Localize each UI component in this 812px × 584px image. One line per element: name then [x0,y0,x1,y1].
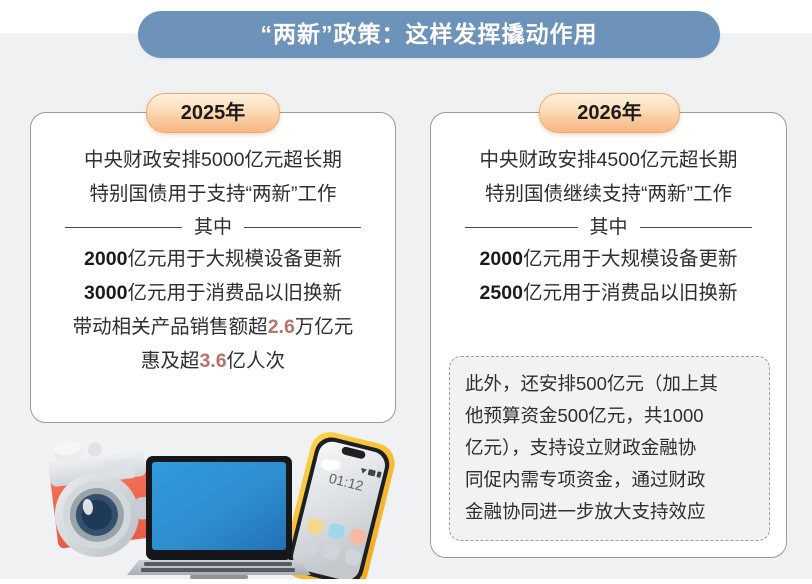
card-2026-intro-line-1: 中央财政安排4500亿元超长期 [447,143,770,177]
card-2025-intro-line-2: 特别国债用于支持“两新”工作 [47,177,379,211]
page-title: “两新”政策：这样发挥撬动作用 [261,23,598,46]
divider-rule-left [65,227,182,228]
divider-label: 其中 [590,218,628,237]
card-2025-detail-1-text: 亿元用于大规模设备更新 [127,248,342,270]
laptop-icon [127,456,311,579]
title-banner: “两新”政策：这样发挥撬动作用 [138,11,720,58]
card-2026-detail-2-amount: 2500 [480,282,523,304]
card-2026-detail-1: 2000亿元用于大规模设备更新 [447,242,770,276]
divider-rule-left [465,227,578,228]
note-line-4: 同促内需专项资金，通过财政 [465,464,754,496]
year-card-2025: 中央财政安排5000亿元超长期 特别国债用于支持“两新”工作 其中 2000亿元… [30,112,396,423]
note-line-5: 金融协同进一步放大支持效应 [465,496,754,528]
divider-rule-right [640,227,753,228]
card-2026-divider: 其中 [465,218,752,237]
card-2025-intro-line-1: 中央财政安排5000亿元超长期 [47,143,379,177]
infographic-root: “两新”政策：这样发挥撬动作用 中央财政安排5000亿元超长期 特别国债用于支持… [0,0,812,579]
card-2025-intro-text-1: 中央财政安排5000亿元超长期 [84,149,342,171]
card-2026-detail-1-amount: 2000 [480,248,523,270]
card-2025-intro-text-2: 特别国债用于支持“两新”工作 [90,183,337,205]
card-2026-body: 中央财政安排4500亿元超长期 特别国债继续支持“两新”工作 其中 2000亿元… [431,113,786,310]
card-2025-result-2: 惠及超3.6亿人次 [47,344,379,378]
card-2025-body: 中央财政安排5000亿元超长期 特别国债用于支持“两新”工作 其中 2000亿元… [31,113,395,378]
card-2025-detail-2: 3000亿元用于消费品以旧换新 [47,276,379,310]
card-2025-result-1-value: 2.6 [268,316,295,338]
card-2025-detail-2-amount: 3000 [84,282,127,304]
card-2026-intro-text-2: 特别国债继续支持“两新”工作 [485,183,732,205]
devices-illustration: 01:12 [40,428,400,579]
year-badge-2026-label: 2026年 [577,103,642,123]
divider-rule-right [244,227,361,228]
additional-note-box: 此外，还安排500亿元（加上其 他预算资金500亿元，共1000 亿元），支持设… [449,356,770,541]
card-2025-detail-1: 2000亿元用于大规模设备更新 [47,242,379,276]
note-line-2: 他预算资金500亿元，共1000 [465,400,754,432]
card-2025-result-2-suffix: 亿人次 [227,350,286,372]
card-2026-detail-1-text: 亿元用于大规模设备更新 [523,248,738,270]
devices-illustration-svg: 01:12 [40,428,400,579]
card-2025-result-2-value: 3.6 [199,350,226,372]
year-card-2026: 中央财政安排4500亿元超长期 特别国债继续支持“两新”工作 其中 2000亿元… [430,112,787,558]
card-2025-detail-1-amount: 2000 [84,248,127,270]
card-2025-divider: 其中 [65,218,361,237]
year-badge-2025-label: 2025年 [181,103,246,123]
card-2026-intro-line-2: 特别国债继续支持“两新”工作 [447,177,770,211]
note-line-1: 此外，还安排500亿元（加上其 [465,368,754,400]
note-line-3: 亿元），支持设立财政金融协 [465,432,754,464]
year-badge-2025: 2025年 [146,93,280,133]
card-2025-result-1-suffix: 万亿元 [295,316,354,338]
card-2026-detail-2: 2500亿元用于消费品以旧换新 [447,276,770,310]
smartphone-icon: 01:12 [279,428,399,579]
card-2025-result-1-prefix: 带动相关产品销售额超 [73,316,268,338]
card-2026-detail-2-text: 亿元用于消费品以旧换新 [523,282,738,304]
card-2026-intro-text-1: 中央财政安排4500亿元超长期 [480,149,738,171]
camera-icon [46,432,156,562]
year-badge-2026: 2026年 [539,93,680,133]
card-2025-detail-2-text: 亿元用于消费品以旧换新 [127,282,342,304]
divider-label: 其中 [194,218,232,237]
card-2025-result-2-prefix: 惠及超 [141,350,200,372]
card-2025-result-1: 带动相关产品销售额超2.6万亿元 [47,310,379,344]
